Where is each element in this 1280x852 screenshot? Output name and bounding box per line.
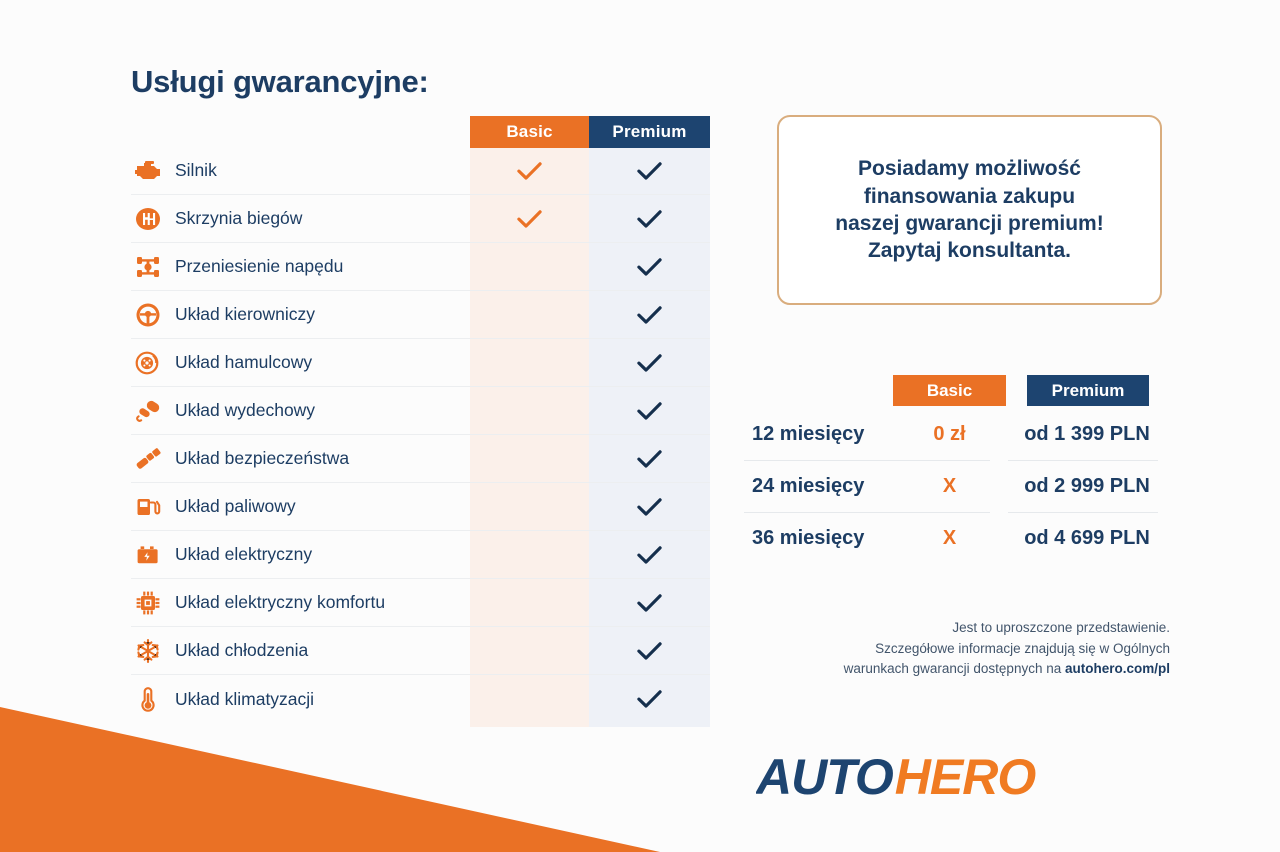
exhaust-icon bbox=[131, 396, 165, 426]
check-icon bbox=[517, 209, 542, 229]
engine-icon bbox=[131, 156, 165, 186]
feature-row: Układ paliwowy bbox=[131, 483, 710, 531]
logo-auto-text: AUTO bbox=[756, 749, 894, 805]
feature-row: Układ chłodzenia bbox=[131, 627, 710, 675]
offer-panel: Posiadamy możliwość finansowania zakupu … bbox=[730, 0, 1280, 852]
basic-availability-cell bbox=[470, 291, 589, 339]
battery-icon bbox=[131, 540, 165, 570]
premium-availability-cell bbox=[589, 579, 710, 627]
promo-line-2: finansowania zakupu bbox=[864, 183, 1075, 210]
pricing-premium-value: od 1 399 PLN bbox=[1012, 408, 1162, 460]
premium-availability-cell bbox=[589, 483, 710, 531]
premium-availability-cell bbox=[589, 435, 710, 483]
basic-availability-cell bbox=[470, 579, 589, 627]
feature-row: Skrzynia biegów bbox=[131, 195, 710, 243]
basic-availability-cell bbox=[470, 387, 589, 435]
feature-row: Układ elektryczny bbox=[131, 531, 710, 579]
premium-availability-cell bbox=[589, 147, 710, 195]
brake-disc-icon bbox=[131, 348, 165, 378]
premium-availability-cell bbox=[589, 531, 710, 579]
check-icon bbox=[637, 641, 662, 661]
fineprint-line-1: Jest to uproszczone przedstawienie. bbox=[730, 618, 1170, 639]
drivetrain-icon bbox=[131, 252, 165, 282]
autohero-logo: AUTOHERO bbox=[756, 748, 1186, 810]
check-icon bbox=[637, 401, 662, 421]
check-icon bbox=[637, 593, 662, 613]
premium-availability-cell bbox=[589, 291, 710, 339]
steering-wheel-icon bbox=[131, 300, 165, 330]
fineprint-disclaimer: Jest to uproszczone przedstawienie. Szcz… bbox=[730, 618, 1170, 680]
financing-promo-box: Posiadamy możliwość finansowania zakupu … bbox=[777, 115, 1162, 305]
column-header-basic: Basic bbox=[470, 116, 589, 148]
pricing-badge-premium: Premium bbox=[1027, 375, 1149, 406]
check-icon bbox=[637, 161, 662, 181]
autohero-website-link[interactable]: autohero.com/pl bbox=[1065, 661, 1170, 676]
check-icon bbox=[637, 497, 662, 517]
feature-row: Silnik bbox=[131, 147, 710, 195]
basic-availability-cell bbox=[470, 675, 589, 723]
check-icon bbox=[637, 449, 662, 469]
feature-row: Układ elektryczny komfortu bbox=[131, 579, 710, 627]
fineprint-line-3: warunkach gwarancji dostępnych na autohe… bbox=[730, 659, 1170, 680]
check-icon bbox=[637, 689, 662, 709]
seatbelt-icon bbox=[131, 444, 165, 474]
basic-availability-cell bbox=[470, 435, 589, 483]
basic-availability-cell bbox=[470, 483, 589, 531]
premium-availability-cell bbox=[589, 627, 710, 675]
pricing-row: 12 miesięcy0 złod 1 399 PLN bbox=[730, 408, 1280, 460]
basic-availability-cell bbox=[470, 147, 589, 195]
basic-availability-cell bbox=[470, 243, 589, 291]
logo-hero-text: HERO bbox=[895, 749, 1037, 805]
fineprint-line-2: Szczegółowe informacje znajdują się w Og… bbox=[730, 639, 1170, 660]
check-icon bbox=[637, 545, 662, 565]
gearbox-icon bbox=[131, 204, 165, 234]
premium-availability-cell bbox=[589, 675, 710, 723]
check-icon bbox=[637, 353, 662, 373]
check-icon bbox=[517, 161, 542, 181]
pricing-header-row: Basic Premium bbox=[730, 372, 1280, 408]
basic-availability-cell bbox=[470, 531, 589, 579]
basic-availability-cell bbox=[470, 627, 589, 675]
pricing-row: 24 miesięcyXod 2 999 PLN bbox=[730, 460, 1280, 512]
pricing-row: 36 miesięcyXod 4 699 PLN bbox=[730, 512, 1280, 564]
premium-availability-cell bbox=[589, 243, 710, 291]
feature-row: Układ hamulcowy bbox=[131, 339, 710, 387]
feature-row: Układ bezpieczeństwa bbox=[131, 435, 710, 483]
column-header-premium: Premium bbox=[589, 116, 710, 148]
check-icon bbox=[637, 209, 662, 229]
fuel-pump-icon bbox=[131, 492, 165, 522]
feature-row: Układ klimatyzacji bbox=[131, 675, 710, 723]
promo-line-3: naszej gwarancji premium! bbox=[835, 210, 1103, 237]
basic-availability-cell bbox=[470, 339, 589, 387]
feature-row: Przeniesienie napędu bbox=[131, 243, 710, 291]
feature-row: Układ wydechowy bbox=[131, 387, 710, 435]
premium-availability-cell bbox=[589, 339, 710, 387]
feature-list: SilnikSkrzynia biegówPrzeniesienie napęd… bbox=[131, 147, 710, 723]
premium-availability-cell bbox=[589, 195, 710, 243]
pricing-basic-value: X bbox=[893, 460, 1006, 512]
thermometer-icon bbox=[131, 684, 165, 714]
pricing-premium-value: od 2 999 PLN bbox=[1012, 460, 1162, 512]
check-icon bbox=[637, 257, 662, 277]
promo-line-4: Zapytaj konsultanta. bbox=[868, 237, 1071, 264]
check-icon bbox=[637, 305, 662, 325]
microchip-icon bbox=[131, 588, 165, 618]
pricing-badge-basic: Basic bbox=[893, 375, 1006, 406]
basic-availability-cell bbox=[470, 195, 589, 243]
snowflake-icon bbox=[131, 636, 165, 666]
feature-row: Układ kierowniczy bbox=[131, 291, 710, 339]
pricing-basic-value: 0 zł bbox=[893, 408, 1006, 460]
promo-line-1: Posiadamy możliwość bbox=[858, 155, 1081, 182]
warranty-services-panel: Usługi gwarancyjne: Basic Premium Silnik… bbox=[0, 0, 730, 852]
pricing-table: Basic Premium 12 miesięcy0 złod 1 399 PL… bbox=[730, 372, 1280, 564]
fineprint-line-3-prefix: warunkach gwarancji dostępnych na bbox=[844, 661, 1065, 676]
pricing-basic-value: X bbox=[893, 512, 1006, 564]
premium-availability-cell bbox=[589, 387, 710, 435]
pricing-premium-value: od 4 699 PLN bbox=[1012, 512, 1162, 564]
page-title: Usługi gwarancyjne: bbox=[131, 64, 429, 100]
